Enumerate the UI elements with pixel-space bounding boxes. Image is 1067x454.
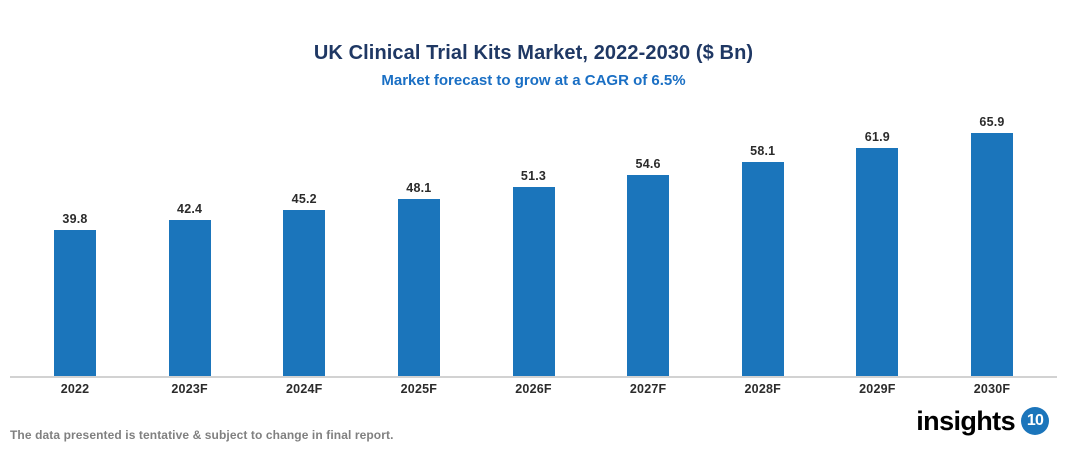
plot-area: 39.8 42.4 45.2 48.1 51.3 54.6 [10, 110, 1057, 378]
bar-rect[interactable] [856, 148, 898, 376]
bar-rect[interactable] [971, 133, 1013, 376]
bar-rect[interactable] [54, 230, 96, 376]
x-tick-label: 2027F [597, 382, 699, 396]
x-tick-label: 2025F [368, 382, 470, 396]
bar-series: 39.8 42.4 45.2 48.1 51.3 54.6 [10, 111, 1057, 376]
bar-rect[interactable] [169, 220, 211, 376]
bar-rect[interactable] [627, 175, 669, 376]
logo-wordmark: insights [916, 408, 1015, 435]
disclaimer-text: The data presented is tentative & subjec… [10, 428, 394, 442]
logo-badge-icon: 10 [1021, 407, 1049, 435]
x-tick-label: 2026F [483, 382, 585, 396]
bar-slot: 45.2 [253, 111, 355, 376]
chart-subtitle: Market forecast to grow at a CAGR of 6.5… [0, 70, 1067, 92]
x-axis-tick-labels: 2022 2023F 2024F 2025F 2026F 2027F 2028F… [10, 382, 1057, 396]
bar-value-label: 51.3 [483, 169, 585, 183]
bar-slot: 39.8 [24, 111, 126, 376]
bar-slot: 65.9 [941, 111, 1043, 376]
bar-value-label: 65.9 [941, 115, 1043, 129]
bar-slot: 51.3 [483, 111, 585, 376]
x-tick-label: 2024F [253, 382, 355, 396]
bar-rect[interactable] [742, 162, 784, 376]
bar-value-label: 42.4 [139, 202, 241, 216]
chart-page: UK Clinical Trial Kits Market, 2022-2030… [0, 0, 1067, 454]
title-block: UK Clinical Trial Kits Market, 2022-2030… [0, 40, 1067, 92]
x-tick-label: 2030F [941, 382, 1043, 396]
bar-value-label: 61.9 [826, 130, 928, 144]
bar-value-label: 58.1 [712, 144, 814, 158]
x-tick-label: 2028F [712, 382, 814, 396]
x-tick-label: 2023F [139, 382, 241, 396]
bar-value-label: 54.6 [597, 157, 699, 171]
bar-value-label: 48.1 [368, 181, 470, 195]
insights10-logo: insights 10 [916, 407, 1049, 435]
page-title: UK Clinical Trial Kits Market, 2022-2030… [0, 40, 1067, 66]
bar-slot: 54.6 [597, 111, 699, 376]
bar-rect[interactable] [398, 199, 440, 376]
bar-value-label: 45.2 [253, 192, 355, 206]
bar-slot: 48.1 [368, 111, 470, 376]
bar-slot: 42.4 [139, 111, 241, 376]
x-tick-label: 2029F [826, 382, 928, 396]
bar-rect[interactable] [283, 210, 325, 376]
bar-slot: 61.9 [826, 111, 928, 376]
x-axis-line [10, 376, 1057, 378]
bar-rect[interactable] [513, 187, 555, 376]
bar-value-label: 39.8 [24, 212, 126, 226]
x-tick-label: 2022 [24, 382, 126, 396]
bar-slot: 58.1 [712, 111, 814, 376]
